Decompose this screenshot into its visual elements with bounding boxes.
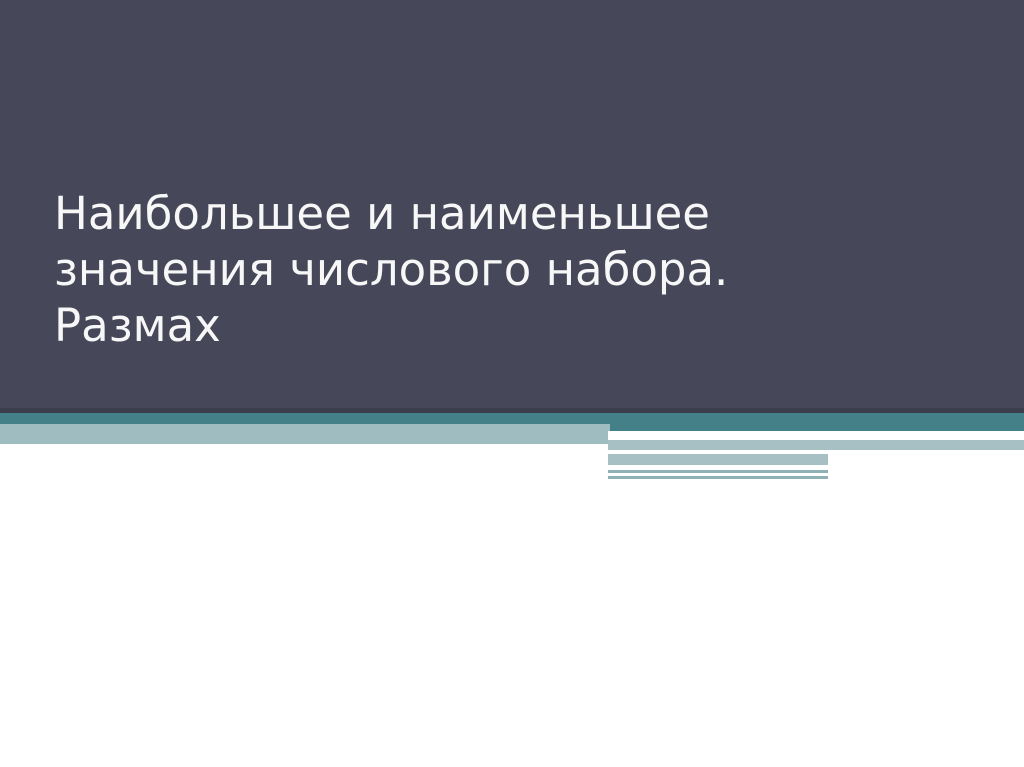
slide-content-area — [0, 483, 1024, 767]
band-stripe-2 — [608, 440, 1024, 450]
slide: Наибольшее и наименьшее значения числово… — [0, 0, 1024, 767]
band-step-notch — [0, 424, 610, 432]
band-light-teal-bar-left — [0, 431, 608, 444]
decorative-band — [0, 413, 1024, 483]
slide-title: Наибольшее и наименьшее значения числово… — [54, 186, 844, 354]
band-stripe-1 — [608, 431, 1024, 440]
band-stripe-5 — [828, 454, 1024, 465]
